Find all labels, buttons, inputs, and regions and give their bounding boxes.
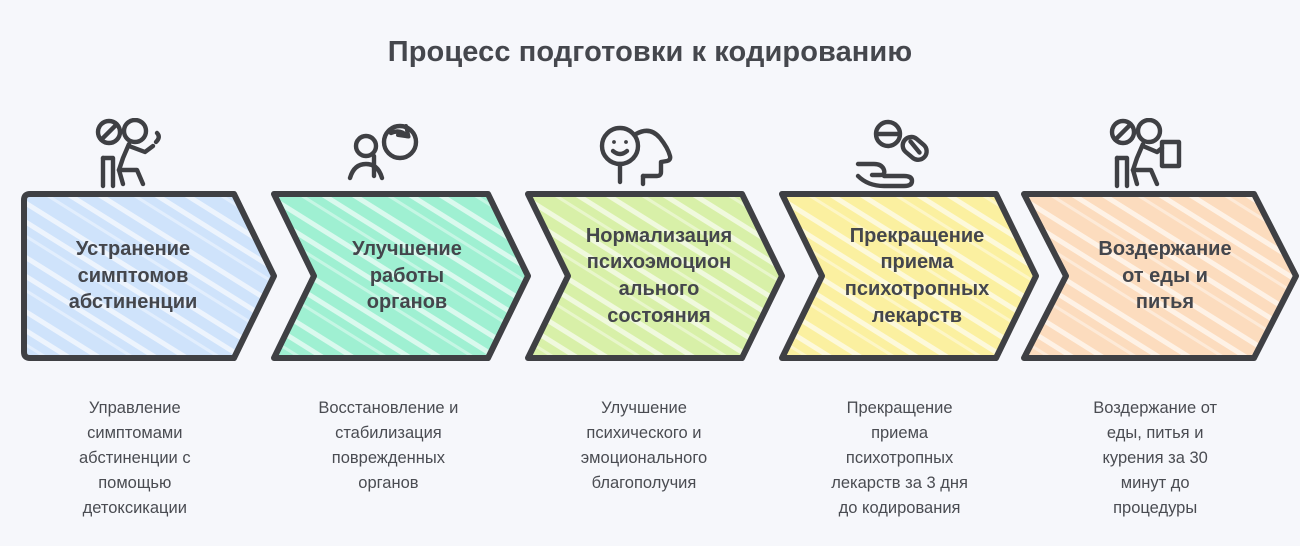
- hand-with-pills-icon: [852, 118, 932, 190]
- step-5-shape: [1020, 190, 1300, 362]
- step-icon-5: [1020, 112, 1274, 190]
- process-step-5[interactable]: Воздержание от еды и питья: [1020, 190, 1300, 362]
- process-step-2[interactable]: Улучшение работы органов: [270, 190, 536, 362]
- infographic-root: Процесс подготовки к кодированию: [0, 0, 1300, 546]
- step-icon-4: [765, 112, 1019, 190]
- process-chevron-row: Устранение симптомов абстиненции: [16, 190, 1286, 362]
- step-icon-2: [258, 112, 512, 190]
- step-3-caption: Улучшение психического и эмоционального …: [517, 396, 771, 521]
- step-icon-1: [6, 112, 260, 190]
- step-3-shape: [524, 190, 790, 362]
- process-step-4[interactable]: Прекращение приема психотропных лекарств: [778, 190, 1044, 362]
- caption-row: Управление симптомами абстиненции с помо…: [16, 396, 1284, 521]
- step-2-shape: [270, 190, 536, 362]
- step-1-caption: Управление симптомами абстиненции с помо…: [8, 396, 262, 521]
- no-smoking-seated-person-icon: [93, 118, 173, 190]
- page-title: Процесс подготовки к кодированию: [0, 36, 1300, 69]
- process-step-1[interactable]: Устранение симптомов абстиненции: [16, 190, 282, 362]
- process-step-3[interactable]: Нормализация психоэмоцион ального состоя…: [524, 190, 790, 362]
- person-recovery-refresh-icon: [344, 118, 424, 190]
- step-4-caption: Прекращение приема психотропных лекарств…: [773, 396, 1027, 521]
- head-profile-smiley-icon: [598, 118, 678, 190]
- no-food-seated-person-icon: [1107, 118, 1187, 190]
- step-icon-3: [511, 112, 765, 190]
- step-1-shape: [16, 190, 282, 362]
- step-5-caption: Воздержание от еды, питья и курения за 3…: [1028, 396, 1282, 521]
- icon-row: [16, 112, 1284, 190]
- step-4-shape: [778, 190, 1044, 362]
- step-2-caption: Восстановление и стабилизация поврежденн…: [262, 396, 516, 521]
